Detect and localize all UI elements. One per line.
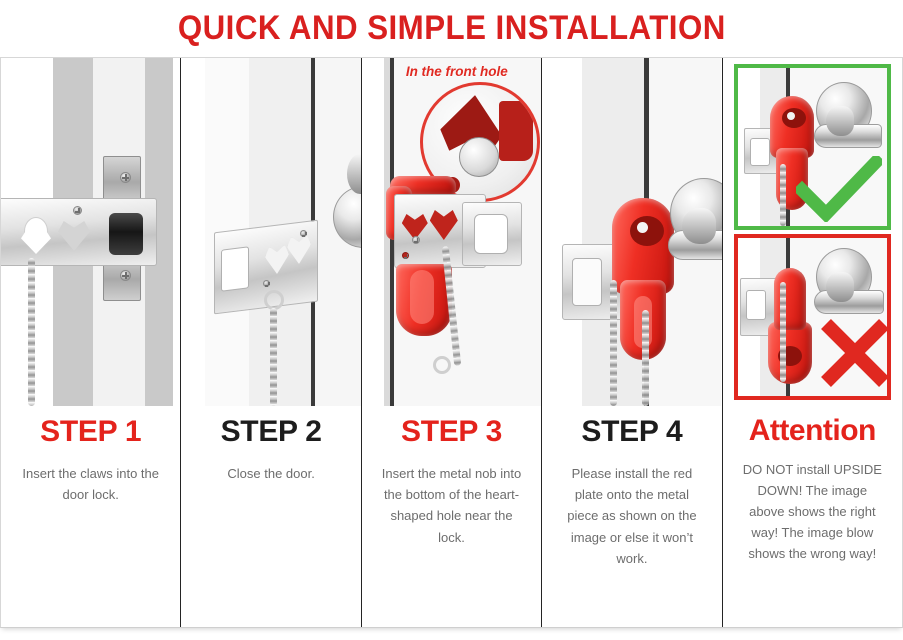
step-1-label: STEP 1: [11, 414, 170, 449]
step-4-caption: STEP 4 Please install the red plate onto…: [542, 406, 721, 627]
step-2-description: Close the door.: [191, 463, 350, 484]
step-3-caption: STEP 3 Insert the metal nob into the bot…: [362, 406, 541, 627]
step-4-description: Please install the red plate onto the me…: [552, 463, 711, 568]
step-1-illustration: [1, 58, 180, 406]
infographic-page: QUICK AND SIMPLE INSTALLATION: [0, 0, 903, 640]
panel-attention: Attention DO NOT install UPSIDE DOWN! Th…: [722, 58, 902, 627]
step-3-illustration: In the front hole: [362, 58, 541, 406]
step-3-description: Insert the metal nob into the bottom of …: [372, 463, 531, 547]
check-mark-icon: [796, 156, 882, 222]
step-3-label: STEP 3: [372, 414, 531, 449]
attention-label: Attention: [733, 414, 892, 447]
correct-orientation-box: [734, 64, 891, 230]
steps-strip: STEP 1 Insert the claws into the door lo…: [0, 57, 903, 628]
panel-step-3: In the front hole: [361, 58, 541, 627]
cross-mark-icon: [816, 314, 891, 392]
panel-step-2: STEP 2 Close the door.: [180, 58, 360, 627]
step-1-caption: STEP 1 Insert the claws into the door lo…: [1, 406, 180, 627]
attention-caption: Attention DO NOT install UPSIDE DOWN! Th…: [723, 406, 902, 627]
step-1-description: Insert the claws into the door lock.: [11, 463, 170, 505]
step-4-illustration: [542, 58, 721, 406]
header-bar: QUICK AND SIMPLE INSTALLATION: [0, 0, 903, 57]
step-2-caption: STEP 2 Close the door.: [181, 406, 360, 627]
front-hole-annotation: In the front hole: [406, 64, 508, 79]
page-title: QUICK AND SIMPLE INSTALLATION: [178, 9, 726, 48]
step-2-illustration: [181, 58, 360, 406]
step-4-label: STEP 4: [552, 414, 711, 449]
attention-illustration: [723, 58, 902, 406]
attention-description: DO NOT install UPSIDE DOWN! The image ab…: [733, 459, 892, 564]
panel-step-4: STEP 4 Please install the red plate onto…: [541, 58, 721, 627]
step-2-label: STEP 2: [191, 414, 350, 449]
wrong-orientation-box: [734, 234, 891, 400]
panel-step-1: STEP 1 Insert the claws into the door lo…: [1, 58, 180, 627]
